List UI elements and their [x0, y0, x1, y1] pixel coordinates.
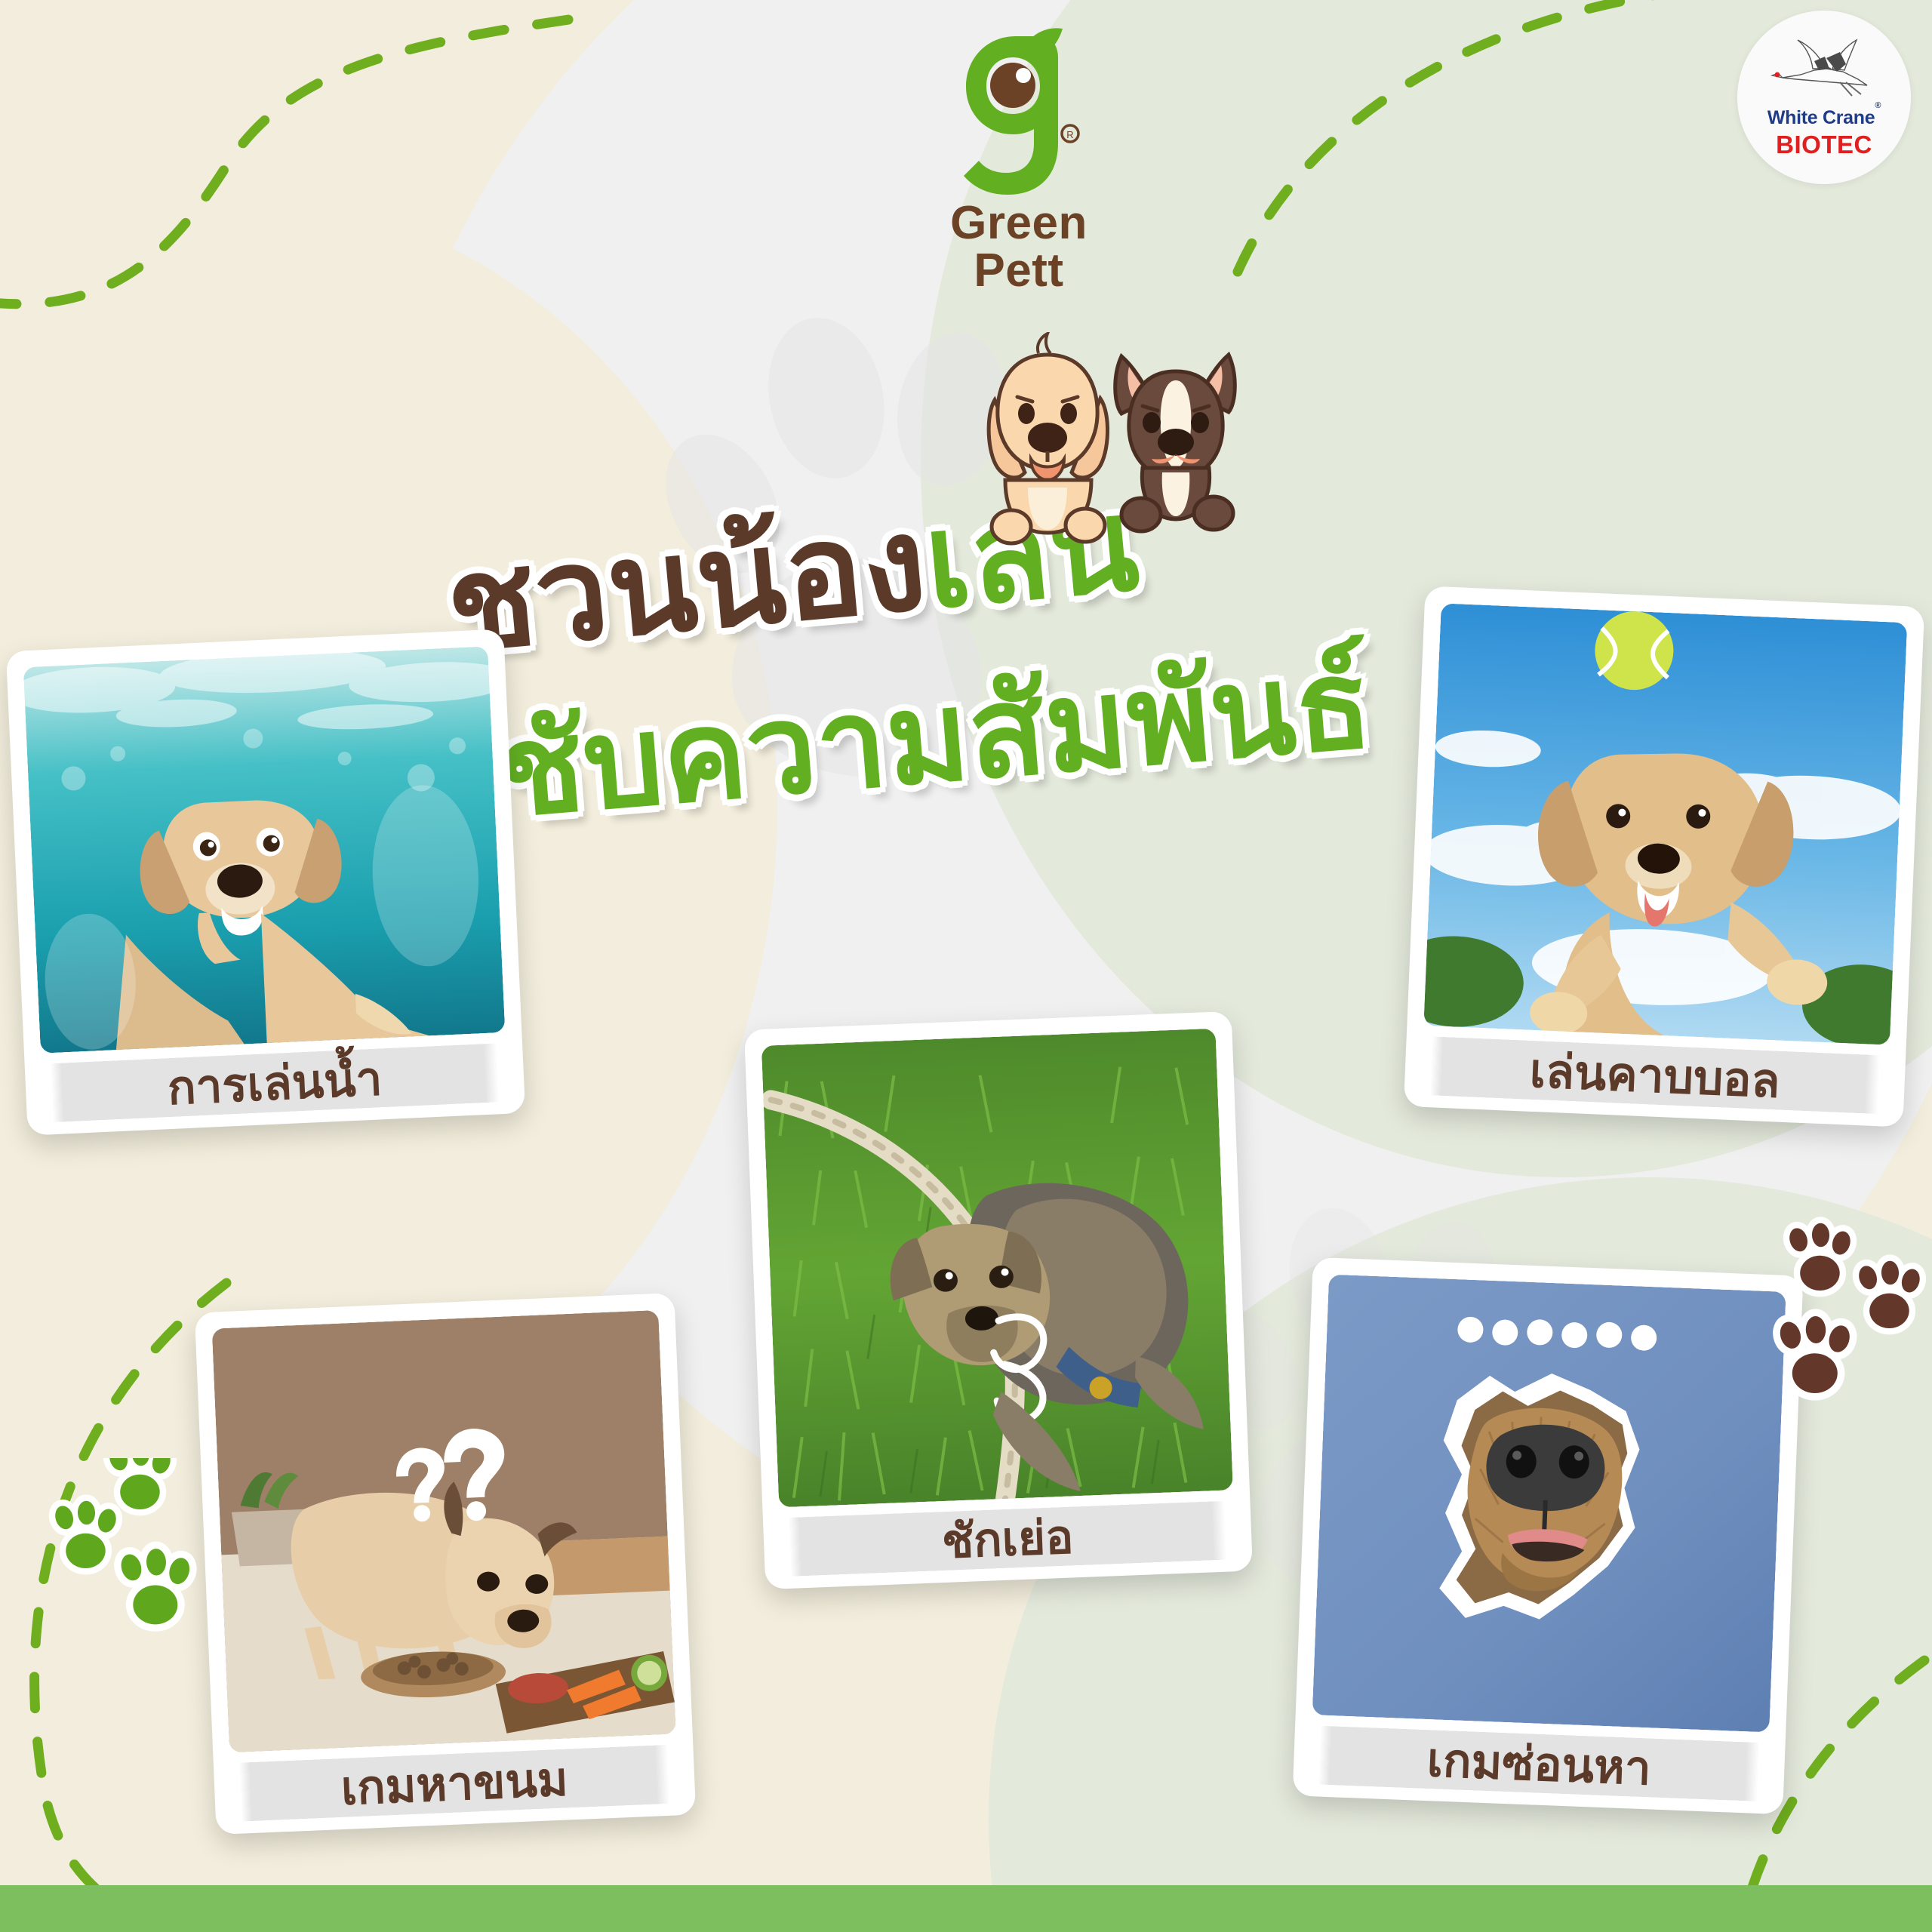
french-bulldog-puppy-icon	[1115, 355, 1235, 531]
green-paw-print-icon-cluster	[36, 1458, 217, 1647]
poster-canvas: R Green Pett White Crane® BIOTEC ชวนน้อง…	[0, 0, 1932, 1932]
bottom-green-bar	[0, 1885, 1932, 1932]
svg-text:R: R	[1066, 129, 1073, 140]
french-bulldog-sniffing-food-photo	[212, 1310, 676, 1752]
golden-retriever-puppy-icon	[989, 334, 1107, 543]
headline-block: ชวนน้องเล่น กระชับความสัมพันธ์	[423, 453, 1517, 839]
card-tug-of-war[interactable]: ชักเย่อ	[744, 1011, 1253, 1589]
caption-text: เล่นคาบบอล	[1528, 1034, 1782, 1118]
card-fetch-ball[interactable]: เล่นคาบบอล	[1404, 586, 1924, 1127]
green-pett-mark-icon: R	[943, 23, 1094, 196]
dog-pulling-rope-on-grass-photo	[761, 1029, 1233, 1508]
card-hide-and-seek[interactable]: เกมซ่อนหา	[1293, 1257, 1804, 1814]
green-pett-logo: R Green Pett	[868, 23, 1170, 294]
caption-text: เกมซ่อนหา	[1426, 1723, 1653, 1805]
card-treat-hunt[interactable]: เกมหาขนม	[195, 1293, 696, 1835]
caption-tug-of-war: ชักเย่อ	[779, 1490, 1236, 1589]
brown-paw-print-icon-cluster	[1766, 1215, 1932, 1411]
card-water-play[interactable]: การเล่นน้ำ	[6, 629, 525, 1135]
logo-text-line2: Pett	[868, 247, 1170, 294]
white-crane-biotec-badge: White Crane® BIOTEC	[1737, 11, 1911, 184]
partner-name: White Crane®	[1767, 107, 1881, 129]
caption-text: ชักเย่อ	[940, 1500, 1075, 1579]
dog-nose-through-torn-blue-paper-photo	[1312, 1275, 1786, 1733]
dog-jumping-for-tennis-ball-photo	[1423, 603, 1907, 1044]
caption-text: การเล่นน้ำ	[166, 1041, 384, 1125]
mascot-dogs-group	[972, 332, 1259, 551]
caption-text: เกมหาขนม	[340, 1742, 570, 1826]
flying-crane-icon	[1767, 35, 1881, 107]
partner-subtitle: BIOTEC	[1776, 131, 1872, 159]
logo-text-line1: Green	[868, 199, 1170, 247]
dog-swimming-underwater-photo	[23, 646, 506, 1053]
